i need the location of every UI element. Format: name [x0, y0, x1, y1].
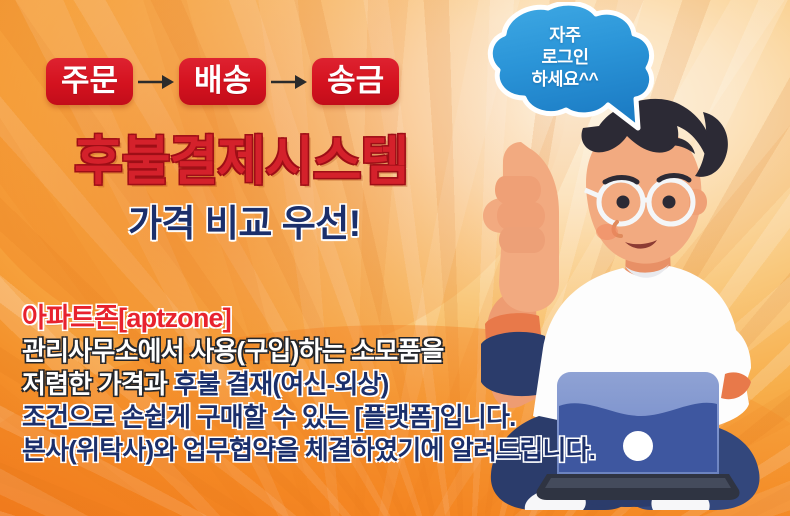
arrow-right-icon: [133, 70, 179, 94]
headline-title: 후불결제시스템: [74, 134, 408, 190]
body-line-2: 저렴한 가격과 후불 결재(여신-외상): [22, 368, 595, 401]
bubble-line-1: 자주: [486, 24, 644, 46]
speech-bubble-text: 자주 로그인 하세요^^: [486, 24, 644, 90]
process-step-delivery[interactable]: 배송: [179, 58, 266, 105]
body-line-4-seg-1: 본사(위탁사)와 업무협약을 체결하였기에 알려드립니다.: [22, 435, 595, 465]
arrow-right-icon-2: [266, 70, 312, 94]
process-step-order[interactable]: 주문: [46, 58, 133, 105]
promo-banner: 주문 배송 송금 후불결제시스템 가격 비교 우선!: [0, 0, 790, 516]
body-line-2-seg-1: 저렴한 가격과: [22, 369, 174, 399]
speech-bubble: 자주 로그인 하세요^^: [486, 2, 662, 134]
body-line-3-seg-1: 조건으로 손쉽게 구매할 수 있는 [플랫폼]입니다.: [22, 402, 516, 432]
headline-subtitle: 가격 비교 우선!: [128, 204, 361, 245]
bubble-line-2: 로그인: [486, 46, 644, 68]
process-steps: 주문 배송 송금: [46, 58, 399, 105]
process-step-remittance[interactable]: 송금: [312, 58, 399, 105]
bubble-line-3: 하세요^^: [486, 68, 644, 90]
body-line-1-seg-1: 관리사무소에서 사용(구입)하는 소모품을: [22, 336, 444, 366]
body-line-1: 관리사무소에서 사용(구입)하는 소모품을: [22, 335, 595, 368]
body-line-3: 조건으로 손쉽게 구매할 수 있는 [플랫폼]입니다.: [22, 401, 595, 434]
body-copy: 아파트존[aptzone] 관리사무소에서 사용(구입)하는 소모품을 저렴한 …: [22, 302, 595, 467]
body-line-4: 본사(위탁사)와 업무협약을 체결하였기에 알려드립니다.: [22, 434, 595, 467]
brand-name: 아파트존[aptzone]: [22, 302, 595, 335]
body-line-2-seg-2: 후불 결재(여신-외상): [174, 369, 389, 399]
